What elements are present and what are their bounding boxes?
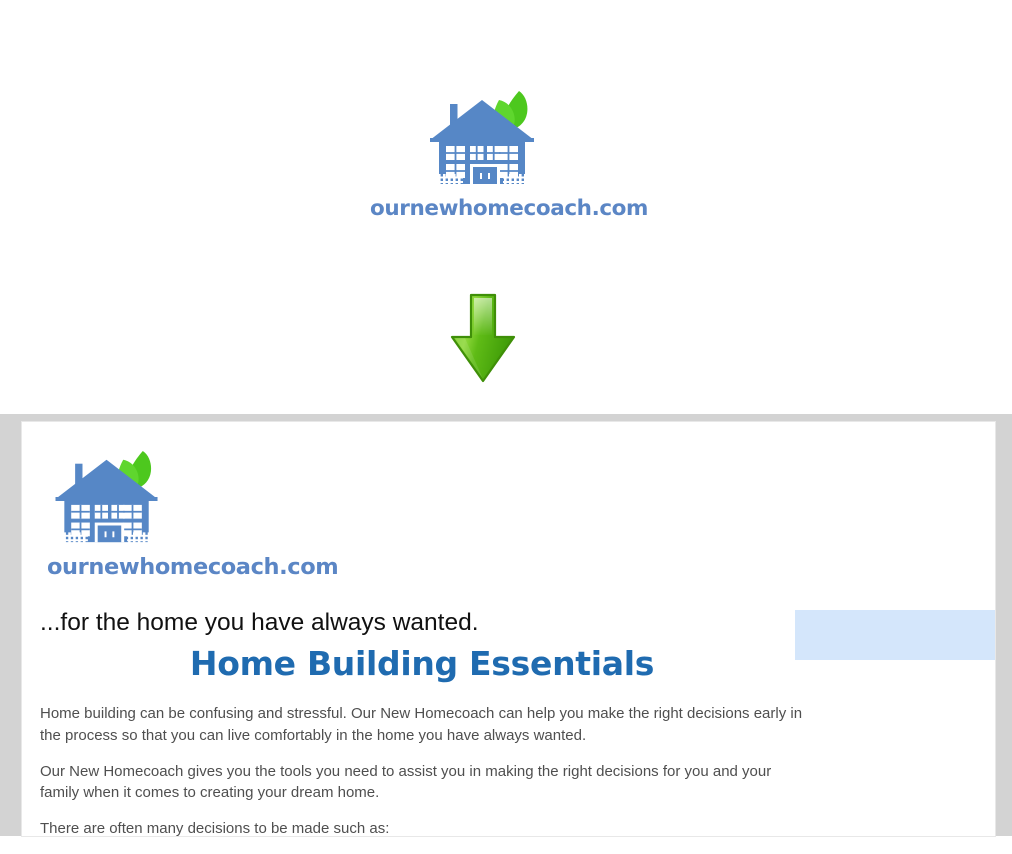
house-with-leaves-icon: [424, 88, 542, 193]
sidebar-highlight-box[interactable]: [795, 610, 995, 660]
logo-wordmark: ournewhomecoach.com: [45, 554, 305, 580]
logo-wordmark: ournewhomecoach.com: [370, 196, 595, 221]
tagline: ...for the home you have always wanted.: [40, 609, 479, 637]
content-panel: ournewhomecoach.com ...for the home you …: [22, 422, 995, 836]
paragraph-1: Home building can be confusing and stres…: [40, 703, 806, 747]
page-title: Home Building Essentials: [22, 644, 822, 683]
site-logo-panel[interactable]: ournewhomecoach.com: [45, 448, 305, 580]
hero-band: ournewhomecoach.com: [0, 0, 1012, 414]
body-copy: Home building can be confusing and stres…: [40, 703, 806, 854]
house-with-leaves-icon: [45, 448, 170, 551]
site-logo-hero[interactable]: ournewhomecoach.com: [370, 88, 595, 221]
paragraph-2: Our New Homecoach gives you the tools yo…: [40, 761, 806, 805]
green-down-arrow-icon[interactable]: [449, 293, 517, 383]
paragraph-3: There are often many decisions to be mad…: [40, 818, 806, 840]
